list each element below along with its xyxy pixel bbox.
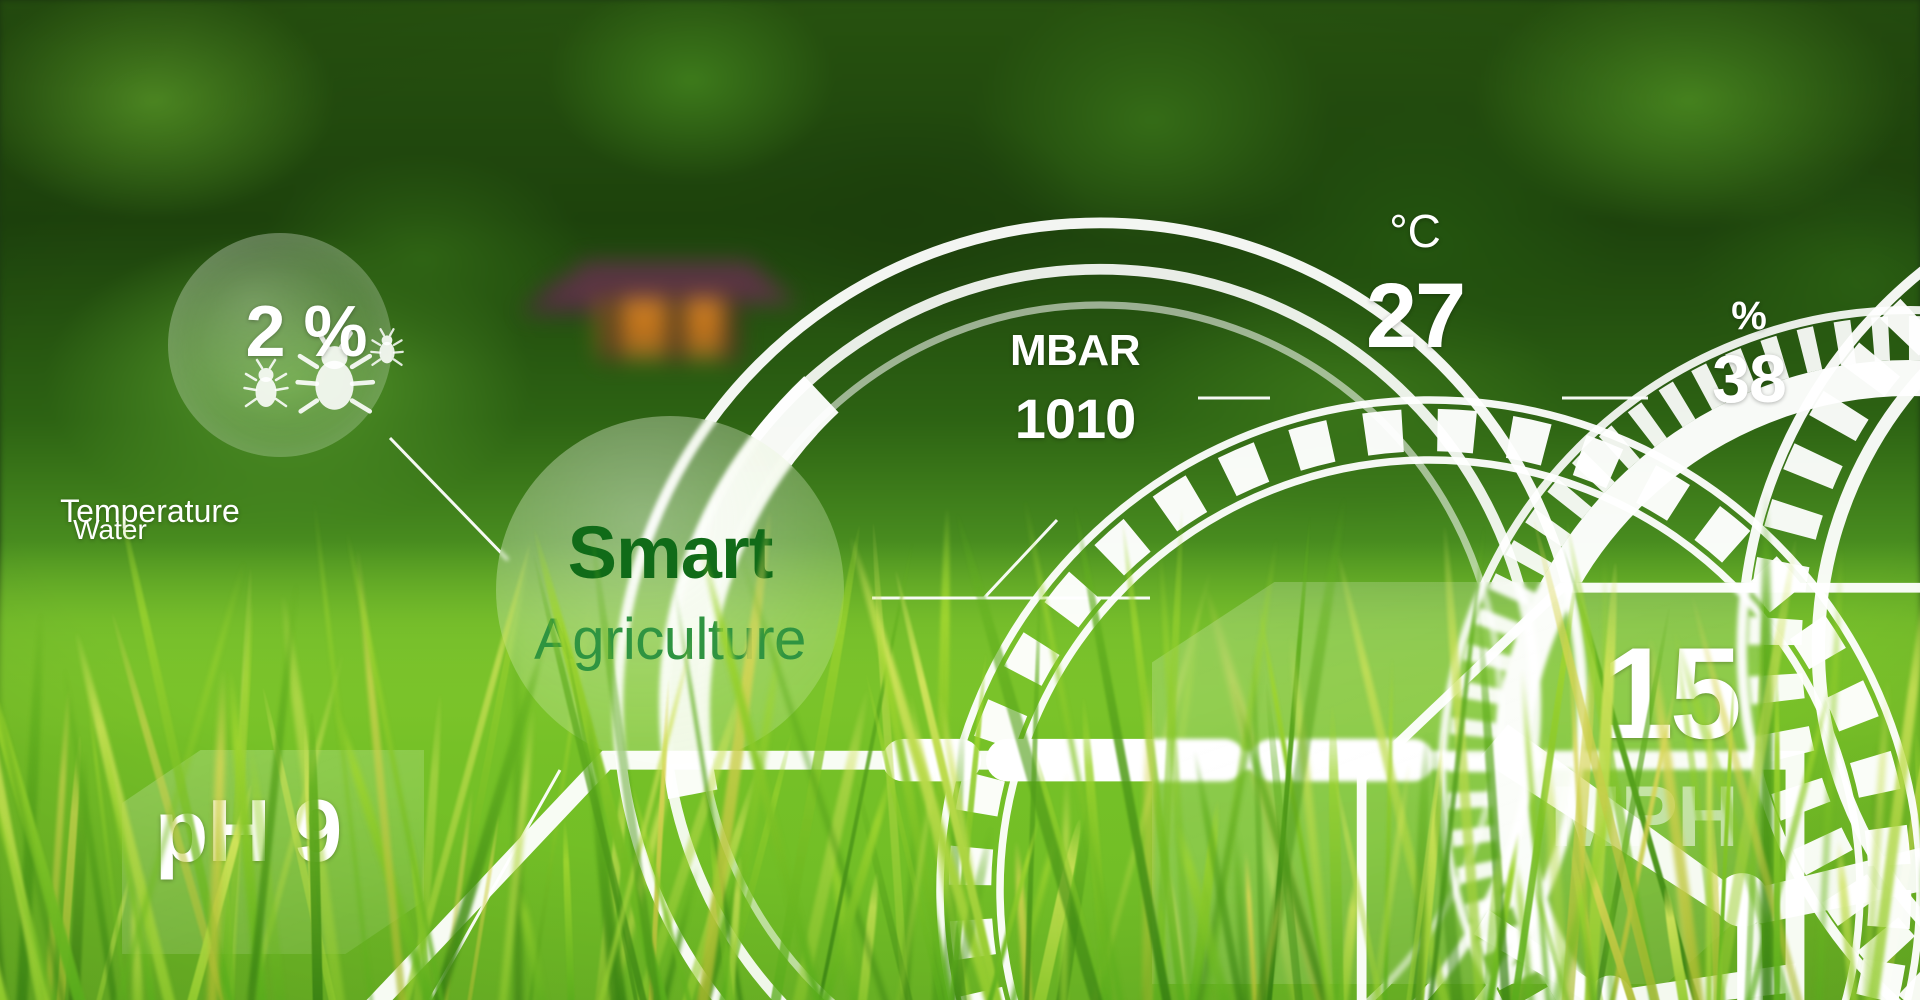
water-widget[interactable]: % 38 xyxy=(1640,258,1858,476)
pressure-unit: MBAR xyxy=(950,326,1200,376)
brand-title: Smart xyxy=(470,510,870,595)
temperature-value: 27 xyxy=(1265,264,1565,369)
pressure-widget[interactable]: MBAR 1010 xyxy=(950,278,1200,528)
smart-agriculture-dashboard: 2 % Smart Agriculture MBAR 1010 xyxy=(0,0,1920,1000)
pest-value: 2 % xyxy=(186,291,426,373)
brand-subtitle: Agriculture xyxy=(470,606,870,673)
pressure-value: 1010 xyxy=(950,386,1200,451)
temperature-widget[interactable]: °C 27 xyxy=(1265,148,1565,448)
water-value: 38 xyxy=(1640,340,1858,418)
temperature-unit: °C xyxy=(1265,204,1565,258)
water-unit: % xyxy=(1640,294,1858,339)
pest-widget[interactable]: 2 % xyxy=(140,205,420,485)
